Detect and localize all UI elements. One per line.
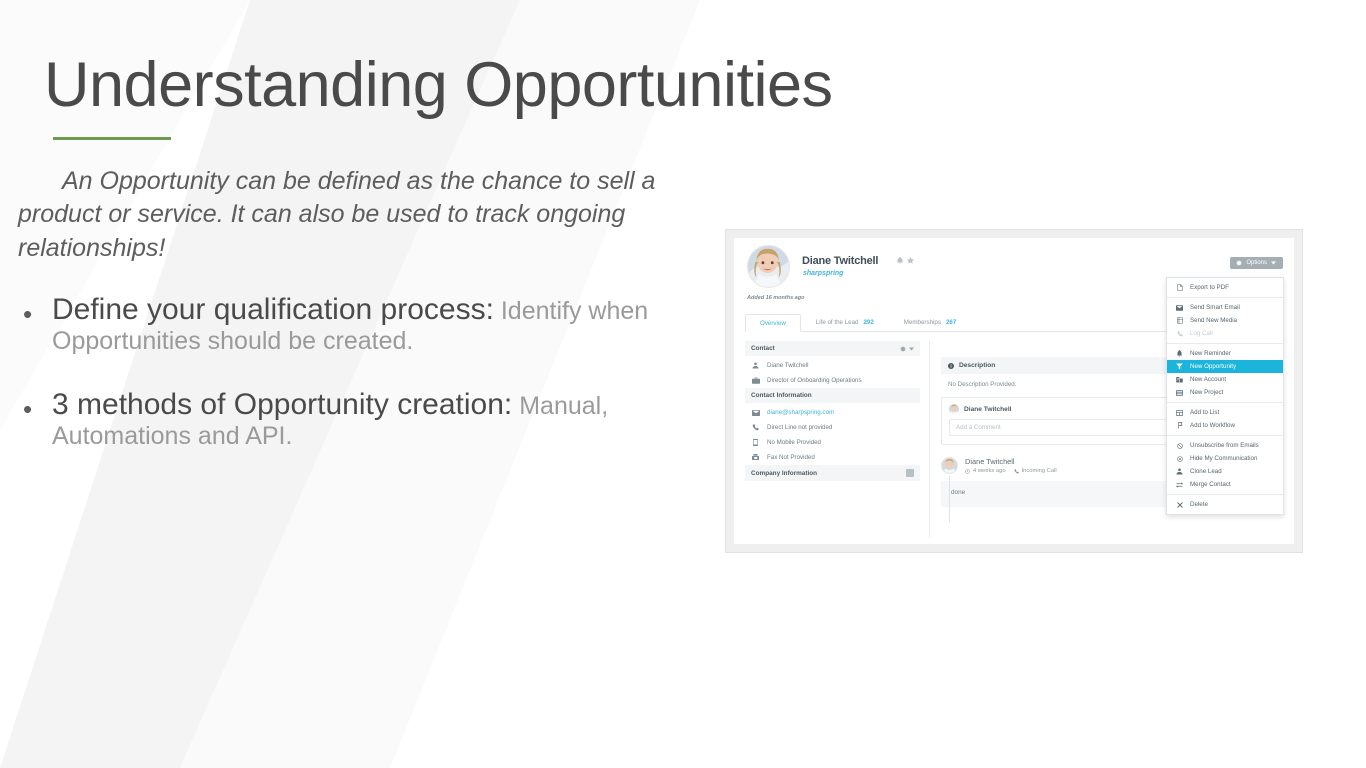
smart-email-icon xyxy=(1175,305,1184,311)
contact-info-row-email[interactable]: diane@sharpspring.com xyxy=(745,405,920,420)
company-badge-icon xyxy=(906,469,914,477)
activity-timeline-rail xyxy=(949,476,950,522)
menu-item-label: Clone Lead xyxy=(1190,468,1222,475)
contact-info-row-mobile: No Mobile Provided xyxy=(745,435,920,450)
menu-item-export-to-pdf[interactable]: Export to PDF xyxy=(1167,281,1283,294)
embedded-screenshot-frame: Diane Twitchell sharpspring Added 16 mon… xyxy=(725,229,1303,553)
tab-label: Overview xyxy=(760,320,786,327)
briefcase-icon xyxy=(751,377,760,384)
company-information-header[interactable]: Company Information xyxy=(745,465,920,481)
activity-time-label: 4 weeks ago xyxy=(973,468,1006,474)
gear-icon[interactable] xyxy=(900,346,906,352)
list-icon xyxy=(1175,410,1184,416)
contact-panel-title: Contact xyxy=(751,345,775,352)
bell-icon[interactable] xyxy=(897,257,903,264)
account-icon xyxy=(1175,376,1184,383)
delete-icon xyxy=(1175,502,1184,508)
avatar xyxy=(941,457,958,474)
menu-item-log-call: Log Call xyxy=(1167,327,1283,340)
activity-meta: 4 weeks ago Incoming Call xyxy=(965,468,1057,474)
contact-panel-header: Contact xyxy=(745,341,920,356)
tab-count: 292 xyxy=(863,319,873,326)
workflow-icon xyxy=(1175,422,1184,429)
menu-item-clone-lead[interactable]: Clone Lead xyxy=(1167,465,1283,478)
activity-type-label: Incoming Call xyxy=(1022,468,1057,474)
pdf-icon xyxy=(1175,284,1184,291)
company-information-title: Company Information xyxy=(751,470,817,477)
crm-contact-screenshot: Diane Twitchell sharpspring Added 16 mon… xyxy=(734,238,1294,544)
person-icon xyxy=(751,362,760,369)
tab-life-of-the-lead[interactable]: Life of the Lead 292 xyxy=(801,314,889,331)
star-icon[interactable] xyxy=(907,257,914,264)
title-underline-rule xyxy=(53,137,171,140)
chevron-down-icon xyxy=(1271,261,1276,265)
contact-info-row-text: Fax Not Provided xyxy=(767,454,815,461)
activity-details: Diane Twitchell 4 weeks ago Incoming Cal… xyxy=(965,457,1057,474)
menu-separator xyxy=(1167,435,1283,436)
contact-information-header: Contact Information xyxy=(745,388,920,403)
menu-item-new-account[interactable]: New Account xyxy=(1167,373,1283,386)
lead-paragraph: An Opportunity can be defined as the cha… xyxy=(18,165,688,265)
merge-icon xyxy=(1175,482,1184,488)
contact-info-row-fax: Fax Not Provided xyxy=(745,450,920,465)
info-icon xyxy=(948,363,954,369)
company-link[interactable]: sharpspring xyxy=(803,270,843,277)
menu-item-label: New Account xyxy=(1190,376,1226,383)
menu-item-label: Delete xyxy=(1190,501,1208,508)
menu-separator xyxy=(1167,402,1283,403)
bullet-lead-text: Define your qualification process: xyxy=(52,293,494,326)
bullet-body: 3 methods of Opportunity creation: Manua… xyxy=(52,387,678,452)
menu-separator xyxy=(1167,343,1283,344)
options-button[interactable]: Options xyxy=(1230,257,1283,269)
added-date-label: Added 16 months ago xyxy=(747,295,804,301)
bullet-list: • Define your qualification process: Ide… xyxy=(18,292,678,482)
tab-memberships[interactable]: Memberships 267 xyxy=(889,314,971,331)
contact-sidebar: Contact Diane Twitchell Director of Onbo… xyxy=(745,341,930,538)
menu-item-label: Add to Workflow xyxy=(1190,422,1235,429)
tab-label: Life of the Lead xyxy=(816,319,859,326)
phone-icon xyxy=(751,424,760,431)
contact-row-text: Director of Onboarding Operations xyxy=(767,377,862,384)
menu-item-label: Hide My Communication xyxy=(1190,455,1257,462)
contact-info-row-text: diane@sharpspring.com xyxy=(767,409,834,416)
list-item: • Define your qualification process: Ide… xyxy=(18,292,678,357)
funnel-icon xyxy=(1175,363,1184,370)
gear-icon xyxy=(1236,260,1242,266)
menu-item-label: Send Smart Email xyxy=(1190,304,1240,311)
clock-icon xyxy=(965,469,970,474)
reminder-icon xyxy=(1175,350,1184,357)
menu-item-add-to-workflow[interactable]: Add to Workflow xyxy=(1167,419,1283,432)
phone-icon xyxy=(1014,469,1019,474)
menu-item-send-new-media[interactable]: Send New Media xyxy=(1167,314,1283,327)
activity-type: Incoming Call xyxy=(1014,468,1057,474)
contact-row-text: Diane Twitchell xyxy=(767,362,809,369)
menu-item-merge-contact[interactable]: Merge Contact xyxy=(1167,478,1283,491)
contact-name: Diane Twitchell xyxy=(802,255,878,267)
envelope-icon xyxy=(751,410,760,416)
activity-author: Diane Twitchell xyxy=(965,457,1057,466)
menu-item-label: New Project xyxy=(1190,389,1223,396)
menu-item-label: New Opportunity xyxy=(1190,363,1236,370)
menu-item-new-reminder[interactable]: New Reminder xyxy=(1167,347,1283,360)
menu-item-new-project[interactable]: New Project xyxy=(1167,386,1283,399)
contact-row-name: Diane Twitchell xyxy=(745,358,920,373)
menu-item-add-to-list[interactable]: Add to List xyxy=(1167,406,1283,419)
contact-info-row-phone: Direct Line not provided xyxy=(745,420,920,435)
menu-item-label: Export to PDF xyxy=(1190,284,1229,291)
chevron-down-icon[interactable] xyxy=(909,347,914,351)
menu-item-new-opportunity[interactable]: New Opportunity xyxy=(1167,360,1283,373)
phone-icon xyxy=(1175,331,1184,337)
options-button-label: Options xyxy=(1246,260,1267,266)
project-icon xyxy=(1175,390,1184,396)
tab-label: Memberships xyxy=(904,319,941,326)
menu-item-label: Merge Contact xyxy=(1190,481,1231,488)
bullet-marker: • xyxy=(18,292,52,336)
list-item: • 3 methods of Opportunity creation: Man… xyxy=(18,387,678,452)
avatar xyxy=(747,245,790,288)
bullet-marker: • xyxy=(18,387,52,431)
contact-name-icons xyxy=(897,257,914,264)
menu-item-unsubscribe-from-emails[interactable]: Unsubscribe from Emails xyxy=(1167,439,1283,452)
menu-item-label: Log Call xyxy=(1190,330,1213,337)
menu-item-hide-my-communication[interactable]: Hide My Communication xyxy=(1167,452,1283,465)
contact-row-title: Director of Onboarding Operations xyxy=(745,373,920,388)
clone-icon xyxy=(1175,468,1184,475)
description-title: Description xyxy=(959,362,995,369)
menu-item-label: Send New Media xyxy=(1190,317,1237,324)
menu-item-label: Unsubscribe from Emails xyxy=(1190,442,1259,449)
ban-icon xyxy=(1175,443,1184,449)
contact-information-title: Contact Information xyxy=(751,392,812,399)
mobile-icon xyxy=(751,439,760,446)
fax-icon xyxy=(751,454,760,461)
contact-info-row-text: Direct Line not provided xyxy=(767,424,832,431)
menu-item-label: New Reminder xyxy=(1190,350,1231,357)
tab-overview[interactable]: Overview xyxy=(745,314,801,332)
hide-icon xyxy=(1175,456,1184,462)
bullet-lead-text: 3 methods of Opportunity creation: xyxy=(52,388,512,421)
menu-separator xyxy=(1167,297,1283,298)
contact-panel-controls xyxy=(900,346,914,352)
tab-count: 267 xyxy=(946,319,956,326)
new-media-icon xyxy=(1175,317,1184,324)
menu-item-label: Add to List xyxy=(1190,409,1219,416)
menu-item-send-smart-email[interactable]: Send Smart Email xyxy=(1167,301,1283,314)
activity-time: 4 weeks ago xyxy=(965,468,1006,474)
contact-info-row-text: No Mobile Provided xyxy=(767,439,821,446)
menu-item-delete[interactable]: Delete xyxy=(1167,498,1283,511)
bullet-body: Define your qualification process: Ident… xyxy=(52,292,678,357)
avatar xyxy=(949,404,959,414)
menu-separator xyxy=(1167,494,1283,495)
page-title: Understanding Opportunities xyxy=(44,52,833,118)
options-dropdown-menu: Export to PDF Send Smart Email Send New … xyxy=(1166,277,1284,515)
comment-author-name: Diane Twitchell xyxy=(964,406,1012,413)
